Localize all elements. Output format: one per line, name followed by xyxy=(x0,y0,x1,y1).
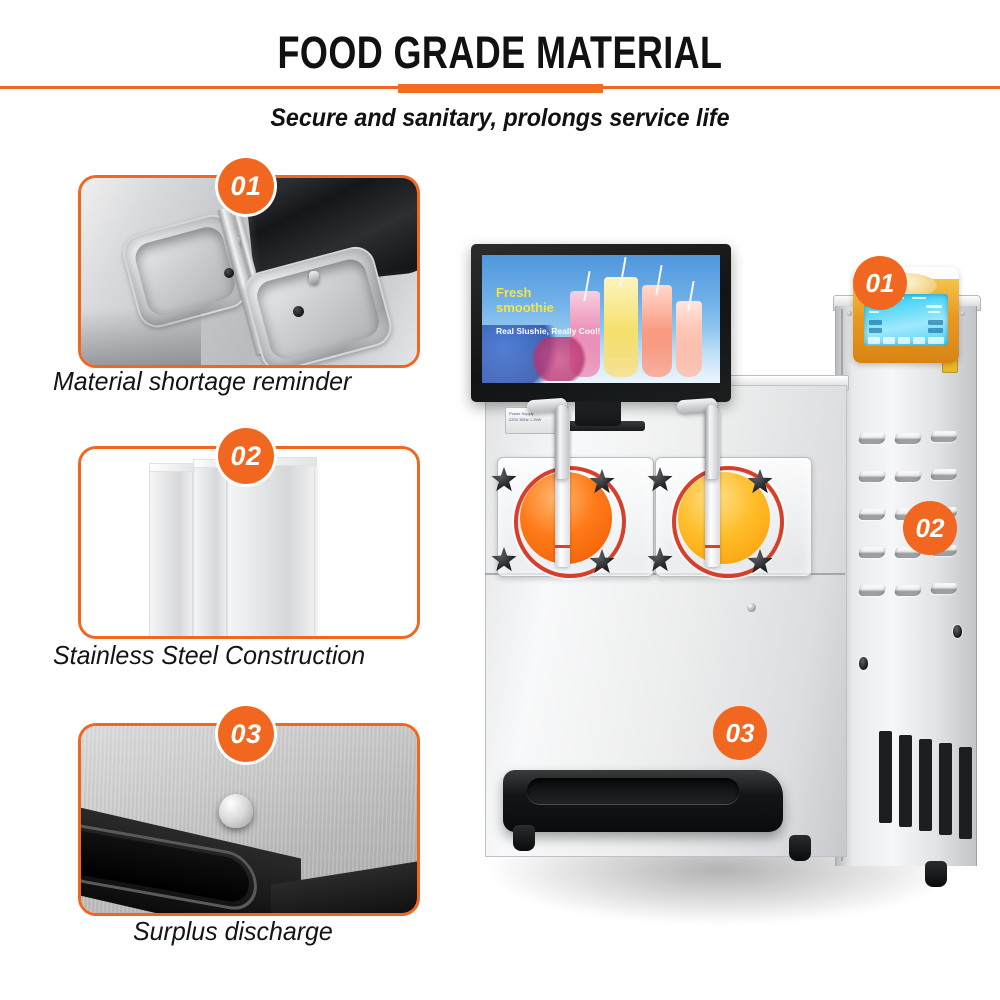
drip-tray[interactable] xyxy=(503,770,783,832)
feature-02-caption: Stainless Steel Construction xyxy=(53,640,365,671)
machine-badge-01: 01 xyxy=(853,256,907,310)
tap-handle-left[interactable] xyxy=(555,405,568,479)
slush-tank-left xyxy=(497,457,654,577)
dispense-tube-left-mark xyxy=(555,545,570,548)
machine-foot-left xyxy=(513,825,535,851)
page-subtitle: Secure and sanitary, prolongs service li… xyxy=(35,104,965,133)
steel-sheet-1-edge xyxy=(149,463,195,472)
pan-right-fitting xyxy=(309,271,319,285)
monitor-stand xyxy=(575,400,621,426)
dispense-tube-right-mark xyxy=(705,545,720,548)
promo-banner: FOOD GRADE MATERIAL Secure and sanitary,… xyxy=(0,0,1000,1000)
display-tagline: Real Slushie, Really Cool! xyxy=(496,326,600,336)
page-title: FOOD GRADE MATERIAL xyxy=(100,27,900,79)
header-divider-accent-block xyxy=(398,84,603,93)
condenser-grille xyxy=(875,725,975,865)
feature-02-badge: 02 xyxy=(218,428,274,484)
tower-lock-right-icon xyxy=(953,625,962,638)
steel-sheet-1 xyxy=(149,467,193,639)
slush-machine-photo: Fresh smoothie Real Slushie, Really Cool… xyxy=(455,225,1000,925)
display-headline: Fresh smoothie xyxy=(496,285,554,316)
front-panel-screw-icon xyxy=(747,603,756,612)
tower-screw-left-icon xyxy=(847,311,852,316)
slush-tanks xyxy=(497,457,817,587)
machine-badge-03: 03 xyxy=(713,706,767,760)
display-ice-pink xyxy=(530,337,588,381)
machine-foot-center xyxy=(789,835,811,861)
feature-01-caption: Material shortage reminder xyxy=(53,366,351,397)
steel-sheet-3 xyxy=(227,461,315,639)
feature-03-caption: Surplus discharge xyxy=(133,916,333,947)
drip-tray-basin xyxy=(527,778,739,804)
photo-shading xyxy=(81,308,201,365)
feature-01-badge: 01 xyxy=(218,158,274,214)
tower-screw-right-icon xyxy=(960,311,965,316)
pan-left-sensor-hole xyxy=(224,268,234,278)
tower-lock-icon xyxy=(859,657,868,670)
tap-handle-right[interactable] xyxy=(705,405,718,479)
feature-03-badge: 03 xyxy=(218,706,274,762)
surplus-discharge-valve xyxy=(219,794,253,828)
steel-sheet-2 xyxy=(193,463,227,639)
advertising-display[interactable]: Fresh smoothie Real Slushie, Really Cool… xyxy=(471,244,731,402)
machine-badge-02: 02 xyxy=(903,501,957,555)
machine-foot-right xyxy=(925,861,947,887)
slush-tank-right xyxy=(655,457,812,577)
display-screen[interactable]: Fresh smoothie Real Slushie, Really Cool… xyxy=(482,255,720,383)
pan-right-sensor-hole xyxy=(293,306,304,317)
